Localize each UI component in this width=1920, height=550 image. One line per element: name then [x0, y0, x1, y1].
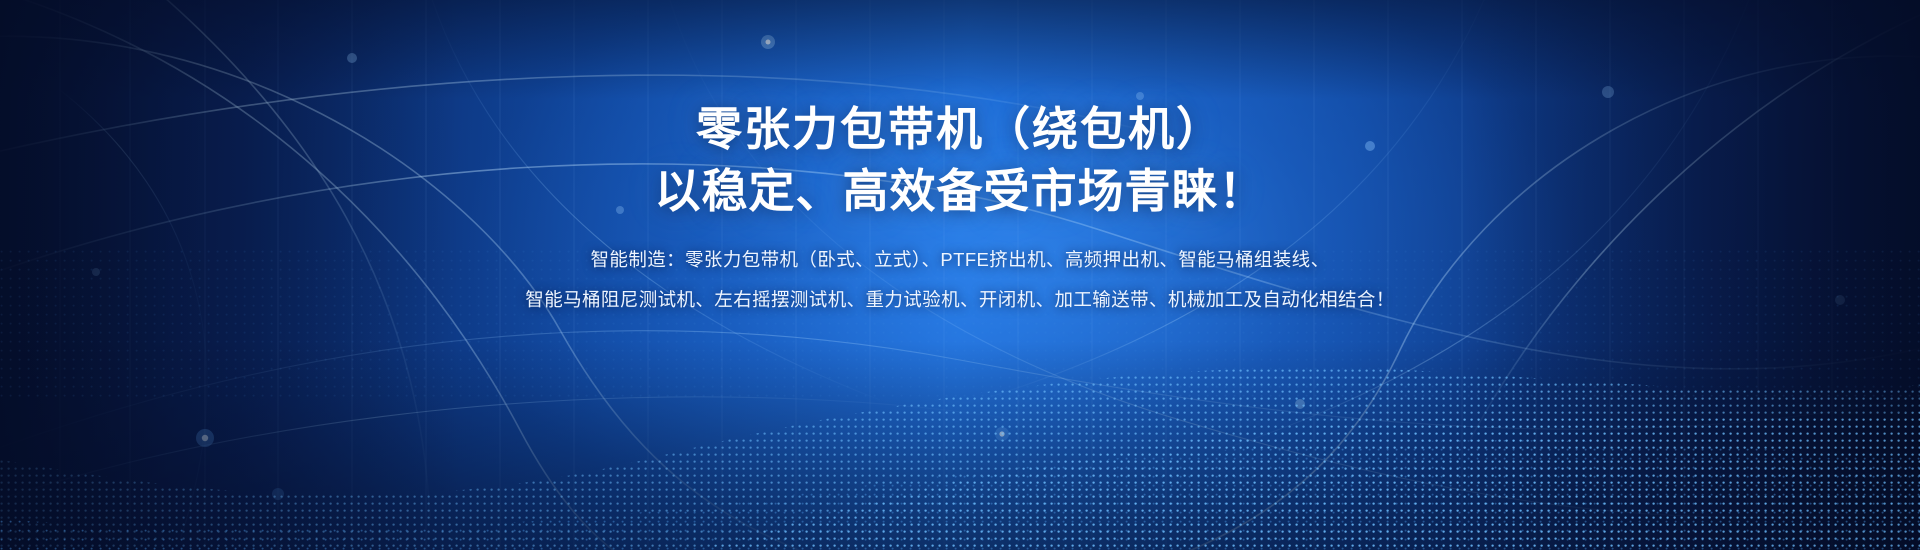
hero-banner: 零张力包带机（绕包机） 以稳定、高效备受市场青睐！ 智能制造：零张力包带机（卧式… [0, 0, 1920, 550]
subtitle-line-2: 智能马桶阻尼测试机、左右摇摆测试机、重力试验机、开闭机、加工输送带、机械加工及自… [525, 280, 1394, 320]
banner-subtitle: 智能制造：零张力包带机（卧式、立式）、PTFE挤出机、高频押出机、智能马桶组装线… [525, 240, 1394, 320]
headline-line-2: 以稳定、高效备受市场青睐！ [655, 160, 1266, 222]
banner-headline: 零张力包带机（绕包机） 以稳定、高效备受市场青睐！ [655, 98, 1266, 222]
subtitle-line-1: 智能制造：零张力包带机（卧式、立式）、PTFE挤出机、高频押出机、智能马桶组装线… [525, 240, 1394, 280]
headline-line-1: 零张力包带机（绕包机） [655, 98, 1266, 160]
banner-content: 零张力包带机（绕包机） 以稳定、高效备受市场青睐！ 智能制造：零张力包带机（卧式… [0, 0, 1920, 550]
